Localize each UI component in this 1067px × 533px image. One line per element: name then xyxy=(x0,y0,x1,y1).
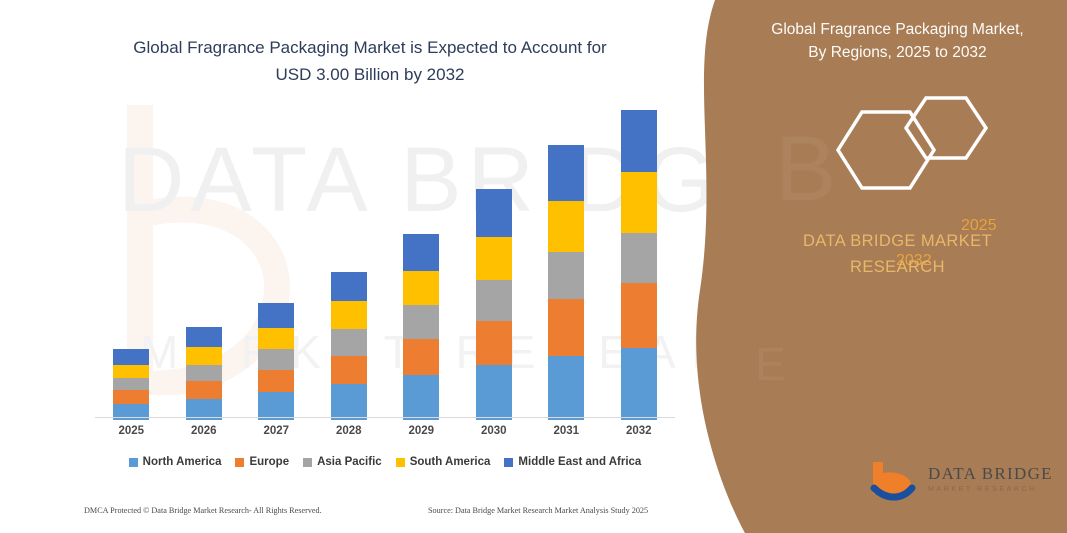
bar-column-2030 xyxy=(476,189,512,420)
x-axis-line xyxy=(95,417,675,418)
bar-segment xyxy=(621,172,657,232)
bar-segment xyxy=(403,375,439,420)
bar-segment xyxy=(476,321,512,365)
bar-segment xyxy=(258,392,294,420)
bar-segment xyxy=(331,384,367,420)
bar-segment xyxy=(331,356,367,385)
bar-column-2026 xyxy=(186,327,222,420)
bar-segment xyxy=(403,271,439,306)
bar-segment xyxy=(331,301,367,329)
bar-column-2029 xyxy=(403,234,439,420)
bar-segment xyxy=(186,365,222,381)
legend-swatch-icon xyxy=(129,458,138,467)
bar-column-2032 xyxy=(621,110,657,420)
bar-segment xyxy=(621,233,657,283)
bar-segment xyxy=(113,365,149,378)
bar-segment xyxy=(258,303,294,328)
bar-segment xyxy=(258,328,294,349)
legend-label: North America xyxy=(143,456,222,468)
year-hexagons: 2025 2032 xyxy=(818,92,1038,207)
x-axis-label-2027: 2027 xyxy=(240,425,312,437)
legend-swatch-icon xyxy=(504,458,513,467)
logo-main-text: DATA BRIDGE xyxy=(928,464,1053,484)
x-axis-label-2029: 2029 xyxy=(385,425,457,437)
bar-segment xyxy=(403,305,439,339)
chart-title: Global Fragrance Packaging Market is Exp… xyxy=(60,34,680,88)
legend-item[interactable]: Europe xyxy=(235,456,289,468)
legend-item[interactable]: North America xyxy=(129,456,222,468)
bar-segment xyxy=(113,378,149,390)
bar-segment xyxy=(476,280,512,321)
bar-segment xyxy=(331,272,367,302)
data-bridge-logo: DATA BRIDGE MARKET RESEARCH xyxy=(870,460,1060,512)
right-panel-brand-line1: DATA BRIDGE MARKET xyxy=(740,228,1055,254)
bar-segment xyxy=(331,329,367,356)
footer-copyright: DMCA Protected © Data Bridge Market Rese… xyxy=(84,506,322,515)
legend-swatch-icon xyxy=(235,458,244,467)
bar-segment xyxy=(548,356,584,420)
right-panel-title-line2: By Regions, 2025 to 2032 xyxy=(740,41,1055,64)
right-panel-brand: DATA BRIDGE MARKET RESEARCH xyxy=(740,228,1055,280)
x-axis-labels: 20252026202720282029203020312032 xyxy=(95,425,675,445)
logo-mark-icon xyxy=(870,460,926,506)
bar-segment xyxy=(548,252,584,299)
bar-segment xyxy=(476,189,512,237)
bar-segment xyxy=(548,299,584,355)
hexagon-2025-shape xyxy=(906,98,986,158)
legend-item[interactable]: Asia Pacific xyxy=(303,456,382,468)
stacked-bar-chart xyxy=(95,110,675,420)
legend-label: Asia Pacific xyxy=(317,456,382,468)
footer: DMCA Protected © Data Bridge Market Rese… xyxy=(0,506,700,526)
bar-segment xyxy=(113,390,149,403)
right-panel-title: Global Fragrance Packaging Market, By Re… xyxy=(740,18,1055,64)
logo-wordmark: DATA BRIDGE MARKET RESEARCH xyxy=(928,464,1053,493)
logo-sub-text: MARKET RESEARCH xyxy=(928,486,1053,493)
bar-segment xyxy=(186,347,222,364)
bar-segment xyxy=(186,327,222,347)
x-axis-label-2026: 2026 xyxy=(168,425,240,437)
bar-column-2028 xyxy=(331,272,367,420)
legend-swatch-icon xyxy=(396,458,405,467)
x-axis-label-2025: 2025 xyxy=(95,425,167,437)
bar-column-2027 xyxy=(258,303,294,420)
right-panel-content: Global Fragrance Packaging Market, By Re… xyxy=(740,0,1067,533)
x-axis-label-2031: 2031 xyxy=(530,425,602,437)
bar-segment xyxy=(403,234,439,271)
chart-title-line1: Global Fragrance Packaging Market is Exp… xyxy=(60,34,680,61)
bar-column-2031 xyxy=(548,145,584,420)
bar-segment xyxy=(186,381,222,398)
bar-segment xyxy=(476,237,512,280)
bar-segment xyxy=(548,201,584,252)
chart-legend: North AmericaEuropeAsia PacificSouth Ame… xyxy=(95,456,675,468)
legend-label: South America xyxy=(410,456,491,468)
right-panel-brand-line2: RESEARCH xyxy=(740,254,1055,280)
bar-segment xyxy=(548,145,584,201)
bar-segment xyxy=(621,110,657,172)
footer-source: Source: Data Bridge Market Research Mark… xyxy=(428,506,648,515)
bar-segment xyxy=(258,370,294,393)
legend-item[interactable]: Middle East and Africa xyxy=(504,456,641,468)
bar-segment xyxy=(621,283,657,348)
bar-segment xyxy=(476,365,512,420)
bar-column-2025 xyxy=(113,349,149,420)
x-axis-label-2032: 2032 xyxy=(603,425,675,437)
legend-label: Middle East and Africa xyxy=(518,456,641,468)
x-axis-label-2028: 2028 xyxy=(313,425,385,437)
right-panel-title-line1: Global Fragrance Packaging Market, xyxy=(740,18,1055,41)
legend-label: Europe xyxy=(249,456,289,468)
bar-segment xyxy=(403,339,439,375)
bar-segment xyxy=(258,349,294,369)
infographic-root: DATA BRIDGE MARKET RESEARCH Global Fragr… xyxy=(0,0,1067,533)
legend-item[interactable]: South America xyxy=(396,456,491,468)
x-axis-label-2030: 2030 xyxy=(458,425,530,437)
bar-segment xyxy=(113,349,149,364)
bar-segment xyxy=(621,348,657,420)
legend-swatch-icon xyxy=(303,458,312,467)
chart-title-line2: USD 3.00 Billion by 2032 xyxy=(60,61,680,88)
